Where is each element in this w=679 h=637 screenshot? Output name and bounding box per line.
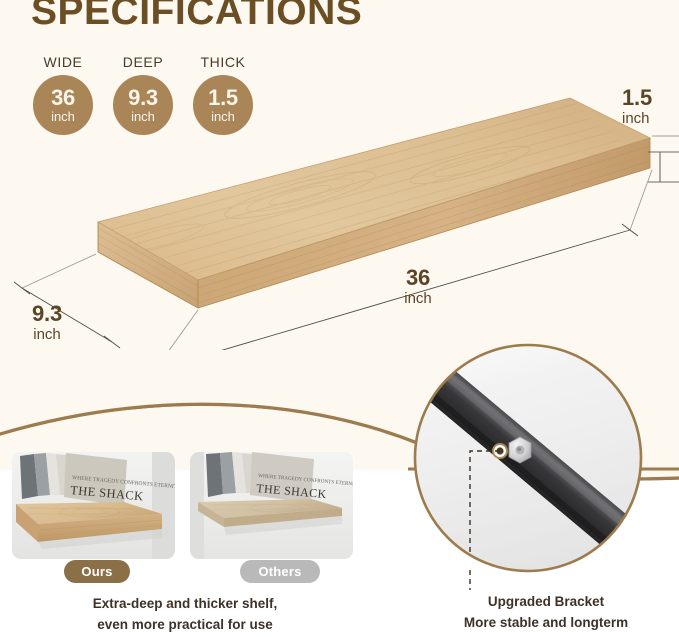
badge-ours: Ours — [64, 560, 130, 583]
page-title: SPECIFICATIONS — [31, 0, 362, 31]
depth-unit: inch — [8, 327, 86, 343]
thickness-value: 1.5 — [622, 86, 678, 109]
bracket-caption-line2: More stable and longterm — [418, 613, 674, 634]
dimension-label-thickness: 1.5 inch — [622, 86, 678, 127]
bracket-caption-line1: Upgraded Bracket — [418, 592, 674, 613]
depth-value: 9.3 — [8, 302, 86, 325]
badge-others: Others — [240, 560, 320, 583]
width-unit: inch — [376, 291, 460, 307]
shelf-board-illustration — [0, 70, 679, 350]
thickness-unit: inch — [622, 111, 678, 127]
bracket-detail-callout — [408, 338, 679, 583]
comparison-caption-line1: Extra-deep and thicker shelf, — [0, 594, 370, 615]
dimension-label-depth: 9.3 inch — [8, 302, 86, 343]
spec-label-thick: THICK — [201, 54, 246, 70]
comparison-card-ours: WHERE TRAGEDY CONFRONTS ETERNITY THE SHA… — [12, 452, 175, 559]
specification-graphic: SPECIFICATIONS WIDE 36 inch DEEP 9.3 inc… — [0, 0, 679, 637]
comparison-card-others: WHERE TRAGEDY CONFRONTS ETERNITY THE SHA… — [190, 452, 353, 559]
comparison-caption: Extra-deep and thicker shelf, even more … — [0, 594, 370, 636]
spec-label-deep: DEEP — [123, 54, 164, 70]
dimension-label-width: 36 inch — [376, 266, 460, 307]
width-value: 36 — [376, 266, 460, 289]
comparison-caption-line2: even more practical for use — [0, 615, 370, 636]
spec-label-wide: WIDE — [44, 54, 83, 70]
bracket-caption: Upgraded Bracket More stable and longter… — [418, 592, 674, 634]
